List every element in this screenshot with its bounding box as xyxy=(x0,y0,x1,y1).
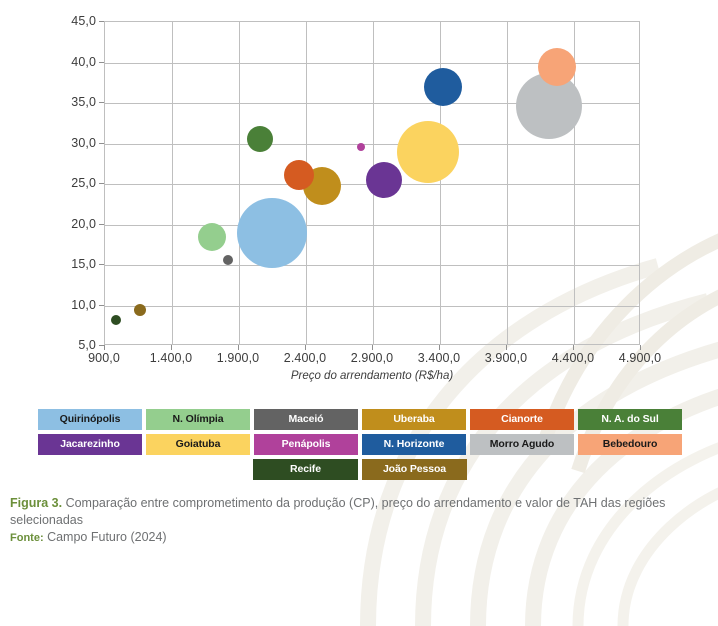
gridline-vertical xyxy=(239,22,240,344)
y-axis-tick: 30,0 xyxy=(26,136,96,150)
legend-item-n-ol-mpia[interactable]: N. Olímpia xyxy=(146,409,250,430)
figure-source: Fonte: Campo Futuro (2024) xyxy=(10,529,710,547)
bubble-macei[interactable] xyxy=(223,255,233,265)
bubble-bebedouro[interactable] xyxy=(538,48,576,86)
x-axis-tick-mark xyxy=(104,345,105,350)
legend-item-goiatuba[interactable]: Goiatuba xyxy=(146,434,250,455)
x-axis-tick-mark xyxy=(506,345,507,350)
legend-row: JacarezinhoGoiatubaPenápolisN. Horizonte… xyxy=(38,434,682,455)
gridline-horizontal xyxy=(105,144,639,145)
y-axis-tick: 20,0 xyxy=(26,217,96,231)
legend-item-bebedouro[interactable]: Bebedouro xyxy=(578,434,682,455)
legend-item-pen-polis[interactable]: Penápolis xyxy=(254,434,358,455)
legend-item-n-a-do-sul[interactable]: N. A. do Sul xyxy=(578,409,682,430)
y-axis-tick: 10,0 xyxy=(26,298,96,312)
source-label: Fonte: xyxy=(10,532,44,544)
y-axis-tick: 45,0 xyxy=(26,14,96,28)
y-axis-tick: 25,0 xyxy=(26,176,96,190)
x-axis-tick-mark xyxy=(171,345,172,350)
x-axis-tick-mark xyxy=(640,345,641,350)
legend-item-n-horizonte[interactable]: N. Horizonte xyxy=(362,434,466,455)
legend-item-morro-agudo[interactable]: Morro Agudo xyxy=(470,434,574,455)
bubble-jo-o-pessoa[interactable] xyxy=(134,304,146,316)
x-axis-label: Preço do arrendamento (R$/ha) xyxy=(104,370,640,382)
figure-number: Figura 3. xyxy=(10,496,62,510)
gridline-vertical xyxy=(172,22,173,344)
figure-description: Comparação entre comprometimento da prod… xyxy=(10,496,665,527)
gridline-vertical xyxy=(507,22,508,344)
legend-item-cianorte[interactable]: Cianorte xyxy=(470,409,574,430)
bubble-n-horizonte[interactable] xyxy=(424,68,462,106)
y-axis-label: Comprometimento da produção com arrendam… xyxy=(0,0,6,20)
gridline-horizontal xyxy=(105,265,639,266)
bubble-jacarezinho[interactable] xyxy=(366,162,402,198)
figure-caption: Figura 3. Comparação entre comprometimen… xyxy=(10,495,710,547)
x-axis-tick-mark xyxy=(573,345,574,350)
source-value: Campo Futuro (2024) xyxy=(44,530,167,544)
bubble-quirin-polis[interactable] xyxy=(237,198,307,268)
legend-item-uberaba[interactable]: Uberaba xyxy=(362,409,466,430)
figure-page: Comprometimento da produção com arrendam… xyxy=(0,0,718,566)
legend-row: QuirinópolisN. OlímpiaMaceióUberabaCiano… xyxy=(38,409,682,430)
legend-item-jo-o-pessoa[interactable]: João Pessoa xyxy=(362,459,467,480)
gridline-horizontal xyxy=(105,225,639,226)
bubble-recife[interactable] xyxy=(111,315,121,325)
legend-item-quirin-polis[interactable]: Quirinópolis xyxy=(38,409,142,430)
plot-area xyxy=(104,21,640,345)
x-axis-tick-mark xyxy=(305,345,306,350)
legend-item-jacarezinho[interactable]: Jacarezinho xyxy=(38,434,142,455)
legend-row: RecifeJoão Pessoa xyxy=(38,459,682,480)
y-axis-tick: 35,0 xyxy=(26,95,96,109)
bubble-goiatuba[interactable] xyxy=(397,121,459,183)
caption-line: Figura 3. Comparação entre comprometimen… xyxy=(10,495,710,528)
legend-item-macei[interactable]: Maceió xyxy=(254,409,358,430)
bubble-n-ol-mpia[interactable] xyxy=(198,223,226,251)
gridline-horizontal xyxy=(105,306,639,307)
x-axis-tick-mark xyxy=(439,345,440,350)
bubble-pen-polis[interactable] xyxy=(357,143,365,151)
x-axis-tick-mark xyxy=(238,345,239,350)
bubble-n-a-do-sul[interactable] xyxy=(247,126,273,152)
x-axis-tick-mark xyxy=(372,345,373,350)
x-axis-tick: 4.900,0 xyxy=(595,351,685,365)
y-axis-tick: 5,0 xyxy=(26,338,96,352)
chart-legend: QuirinópolisN. OlímpiaMaceióUberabaCiano… xyxy=(38,409,682,484)
y-axis-tick: 15,0 xyxy=(26,257,96,271)
bubble-chart: Comprometimento da produção com arrendam… xyxy=(0,0,718,395)
legend-item-recife[interactable]: Recife xyxy=(253,459,358,480)
bubble-cianorte[interactable] xyxy=(284,160,314,190)
y-axis-tick: 40,0 xyxy=(26,55,96,69)
